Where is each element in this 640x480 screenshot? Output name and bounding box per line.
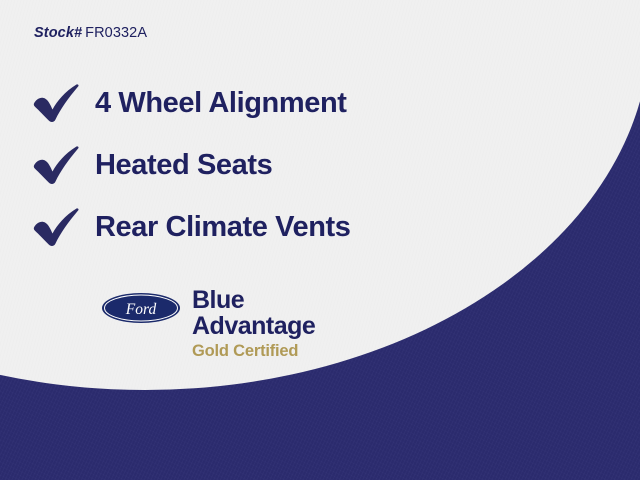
checkmark-icon xyxy=(30,81,86,125)
feature-label: Heated Seats xyxy=(95,151,272,180)
vehicle-feature-slide: Stock#FR0332A 4 Wheel Alignment Heated S… xyxy=(0,0,640,480)
feature-list: 4 Wheel Alignment Heated Seats Rear Clim… xyxy=(30,72,500,258)
feature-item: Rear Climate Vents xyxy=(30,196,500,258)
feature-label: Rear Climate Vents xyxy=(95,213,351,242)
feature-item: 4 Wheel Alignment xyxy=(30,72,500,134)
slide-content: Stock#FR0332A 4 Wheel Alignment Heated S… xyxy=(0,0,640,480)
stock-number-label: Stock# xyxy=(34,25,82,41)
badge-line-advantage: Advantage xyxy=(192,314,315,339)
badge-wordmark: Blue Advantage Gold Certified xyxy=(192,288,315,360)
feature-label: 4 Wheel Alignment xyxy=(95,89,347,118)
checkmark-icon xyxy=(30,143,86,187)
badge-tier-label: Gold Certified xyxy=(192,343,315,360)
checkmark-icon xyxy=(30,205,86,249)
ford-script-text: Ford xyxy=(125,301,157,318)
feature-item: Heated Seats xyxy=(30,134,500,196)
stock-number-value: FR0332A xyxy=(85,25,147,41)
badge-line-blue: Blue xyxy=(192,288,315,313)
stock-number: Stock#FR0332A xyxy=(34,25,147,41)
ford-oval-logo-icon: Ford xyxy=(101,292,181,324)
ford-blue-advantage-badge: Ford Blue Advantage Gold Certified xyxy=(101,288,315,360)
